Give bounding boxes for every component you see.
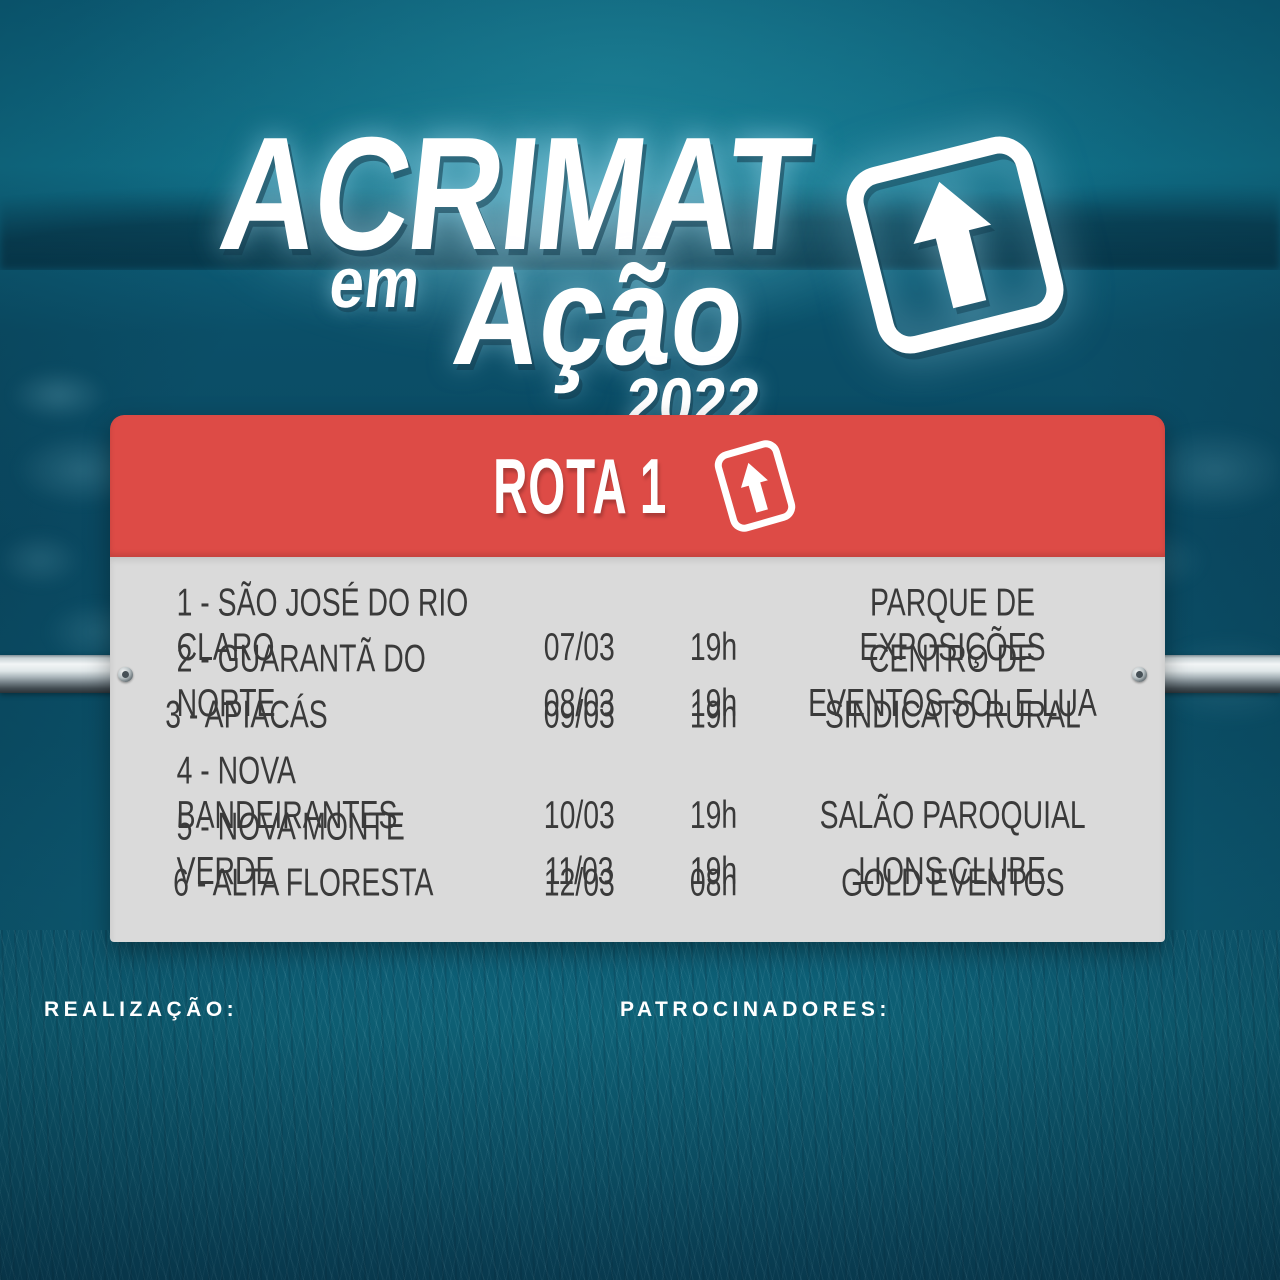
row-city: 3 - APIACÁS (165, 692, 327, 737)
schedule-list: 1 - SÃO JOSÉ DO RIO CLARO 07/03 19h PARQ… (110, 557, 1165, 942)
route-label: ROTA 1 (493, 441, 667, 531)
row-venue: GOLD EVENTOS (841, 860, 1064, 905)
row-time: 08h (690, 860, 737, 905)
sponsor-logo-strip: ACRIMAT Sicredi (0, 1055, 1280, 1185)
bolt-right (1132, 667, 1147, 682)
title-em: em (326, 243, 424, 325)
row-venue: SINDICATO RURAL (824, 692, 1080, 737)
road-sign-arrow-icon (820, 108, 1090, 383)
patrocinadores-label: PATROCINADORES: (620, 998, 891, 1022)
route-header: ROTA 1 (110, 415, 1165, 557)
poster-root: ACRIMAT em Ação 2022 ROTA 1 1 - SÃO JOSÉ… (0, 0, 1280, 1280)
table-row: 6 - ALTA FLORESTA 12/03 08h GOLD EVENTOS (110, 860, 1165, 926)
row-time: 19h (690, 692, 737, 737)
realizacao-label: REALIZAÇÃO: (44, 998, 238, 1022)
row-date: 12/03 (543, 860, 614, 905)
row-city: 6 - ALTA FLORESTA (173, 860, 433, 905)
schedule-panel: ROTA 1 1 - SÃO JOSÉ DO RIO CLARO 07/03 1… (110, 415, 1165, 942)
row-date: 09/03 (543, 692, 614, 737)
bolt-left (118, 667, 133, 682)
title-lockup: ACRIMAT em Ação 2022 (0, 60, 1280, 390)
route-arrow-icon (709, 436, 801, 536)
